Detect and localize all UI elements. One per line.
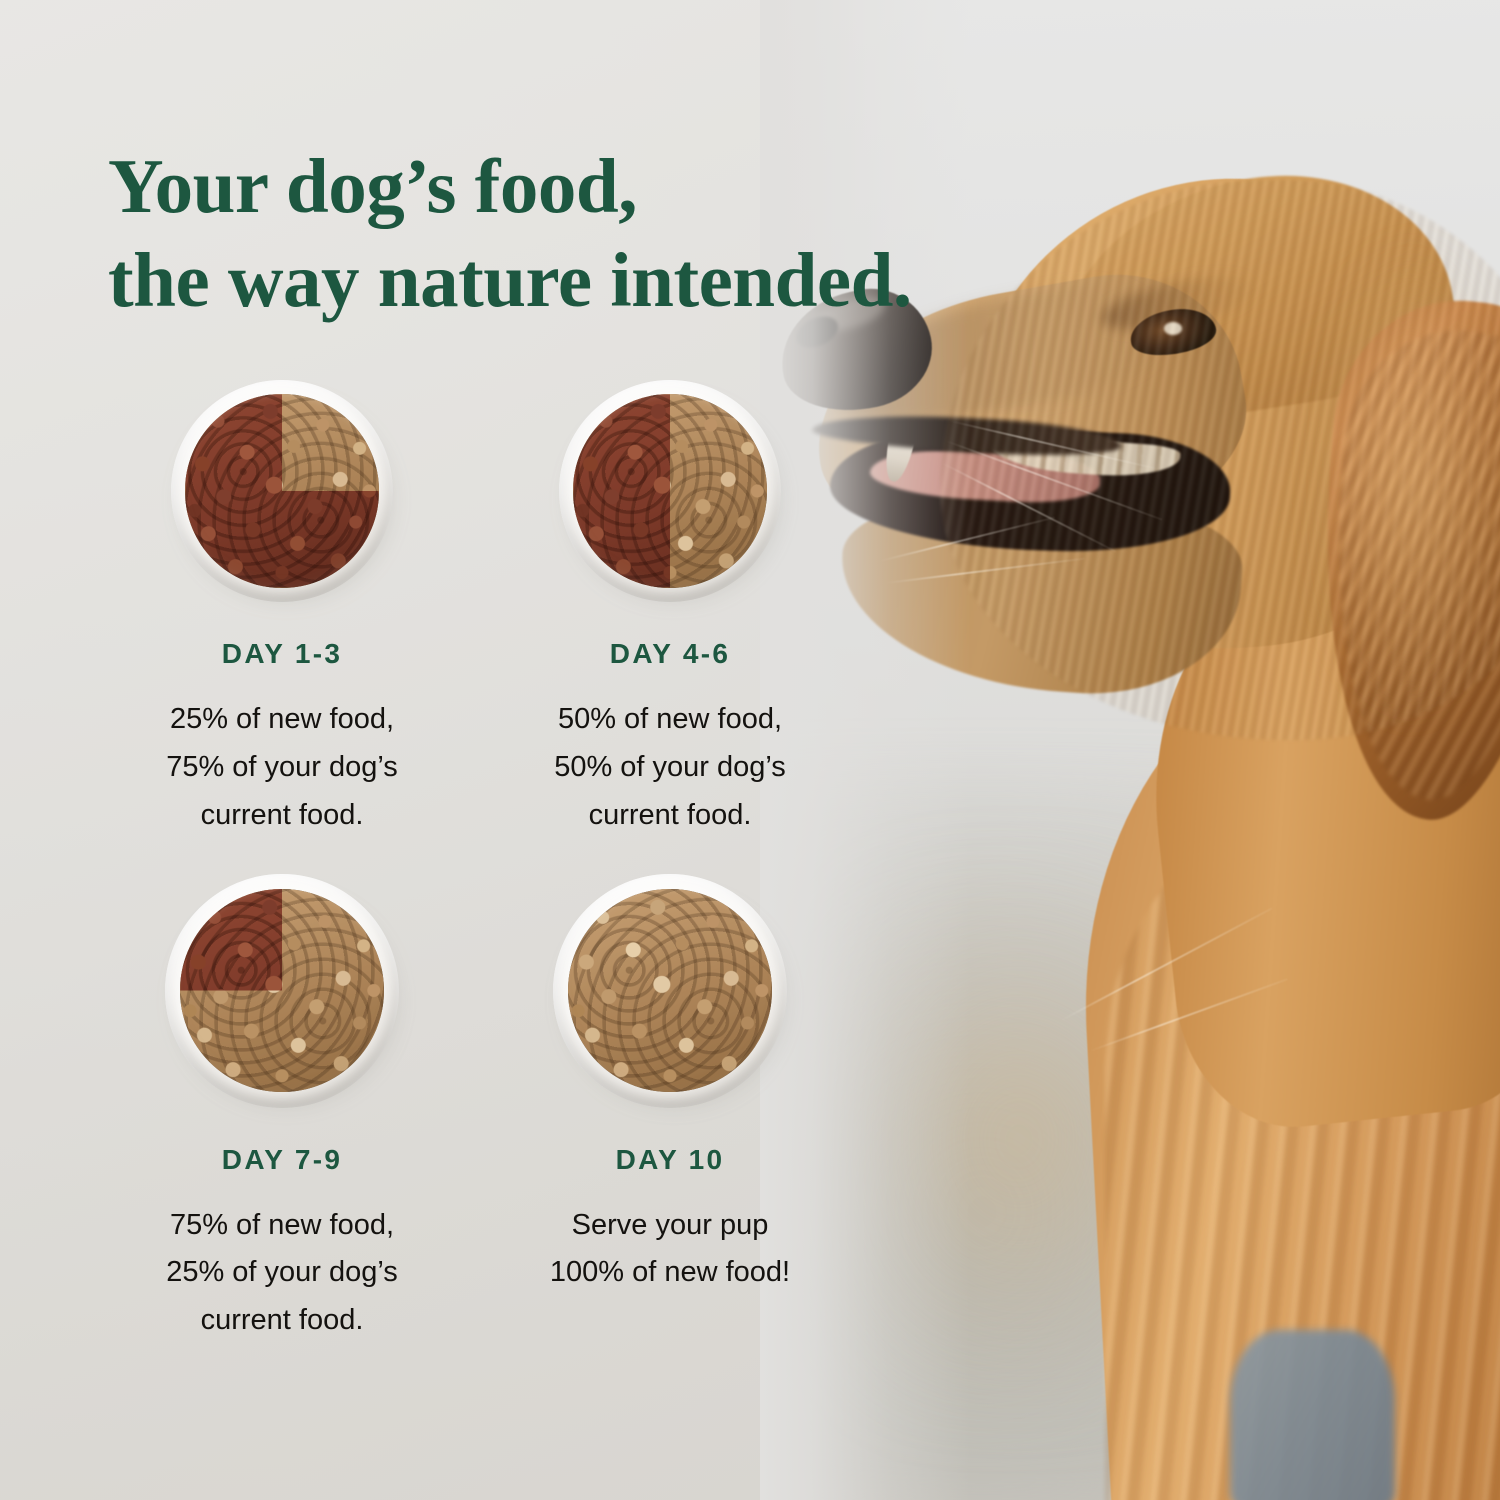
step-day-7-9: DAY 7-9 75% of new food, 25% of your dog… [88, 874, 476, 1346]
bowl-dish [559, 380, 781, 602]
step-label-day-7-9: DAY 7-9 [222, 1144, 342, 1176]
step-day-10: DAY 10 Serve your pup 100% of new food! [476, 874, 864, 1346]
bowl-dish [553, 874, 787, 1108]
bowl-day-7-9 [165, 874, 399, 1108]
bowl-dish [165, 874, 399, 1108]
transition-steps-grid: DAY 1-3 25% of new food, 75% of your dog… [0, 380, 880, 1345]
new-food-kibble [568, 889, 772, 1093]
step-day-1-3: DAY 1-3 25% of new food, 75% of your dog… [88, 380, 476, 840]
steps-row-1: DAY 1-3 25% of new food, 75% of your dog… [0, 380, 880, 840]
page-title: Your dog’s food, the way nature intended… [108, 140, 1158, 328]
step-description-day-10: Serve your pup 100% of new food! [550, 1202, 790, 1298]
infographic-canvas: Your dog’s food, the way nature intended… [0, 0, 1500, 1500]
bowl-contents [568, 889, 772, 1093]
step-description-day-1-3: 25% of new food, 75% of your dog’s curre… [166, 696, 398, 840]
bowl-day-4-6 [559, 380, 781, 602]
bowl-dish [171, 380, 393, 602]
steps-row-2: DAY 7-9 75% of new food, 25% of your dog… [0, 874, 880, 1346]
step-label-day-10: DAY 10 [616, 1144, 725, 1176]
step-label-day-1-3: DAY 1-3 [222, 638, 342, 670]
bowl-day-10 [553, 874, 787, 1108]
step-description-day-4-6: 50% of new food, 50% of your dog’s curre… [554, 696, 786, 840]
bowl-day-1-3 [171, 380, 393, 602]
step-label-day-4-6: DAY 4-6 [610, 638, 730, 670]
bowl-contents [185, 394, 378, 587]
step-description-day-7-9: 75% of new food, 25% of your dog’s curre… [166, 1202, 398, 1346]
bowl-contents [180, 889, 384, 1093]
bowl-contents [573, 394, 766, 587]
step-day-4-6: DAY 4-6 50% of new food, 50% of your dog… [476, 380, 864, 840]
